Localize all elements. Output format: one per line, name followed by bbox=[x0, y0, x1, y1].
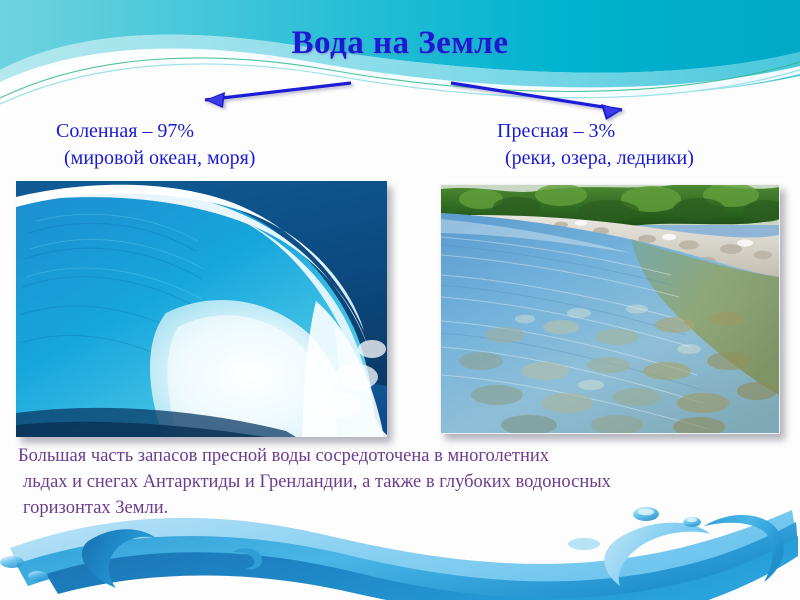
arrow-left-down-icon bbox=[205, 83, 351, 108]
wave-lobe-right-outer bbox=[704, 515, 784, 582]
body-paragraph: Большая часть запасов пресной воды сосре… bbox=[18, 443, 788, 521]
body-line-1: Большая часть запасов пресной воды сосре… bbox=[18, 443, 788, 469]
salt-heading: Соленная – 97% bbox=[56, 118, 255, 145]
river-shore-illustration bbox=[441, 185, 779, 433]
fresh-subtext: (реки, озера, ледники) bbox=[497, 145, 694, 172]
ocean-wave-photo bbox=[16, 181, 387, 437]
aqua-filament-line bbox=[0, 64, 800, 104]
wave-ribbon-dark bbox=[46, 536, 798, 600]
wave-ribbon-mid bbox=[16, 522, 798, 600]
salt-subtext: (мировой океан, моря) bbox=[56, 145, 255, 172]
wave-spiral bbox=[232, 548, 262, 569]
wave-lobe-right-inner bbox=[604, 523, 710, 586]
body-line-2: льдах и снегах Антарктиды и Гренландии, … bbox=[18, 469, 788, 495]
label-salt-water: Соленная – 97% (мировой океан, моря) bbox=[56, 118, 255, 172]
wave-ribbon-light bbox=[10, 510, 796, 593]
wave-curl-left bbox=[82, 529, 156, 588]
ocean-wave-illustration bbox=[16, 181, 387, 437]
body-line-3: горизонтах Земли. bbox=[18, 495, 788, 521]
arrow-right-down-icon bbox=[451, 83, 622, 120]
top-decoration bbox=[0, 0, 800, 130]
slide-title: Вода на Земле bbox=[0, 24, 800, 62]
presentation-slide: Вода на Земле Соленная – 97% (мировой ок… bbox=[0, 0, 800, 600]
label-fresh-water: Пресная – 3% (реки, озера, ледники) bbox=[497, 118, 694, 172]
green-filament-line bbox=[0, 58, 800, 98]
clear-river-photo bbox=[440, 184, 780, 434]
fresh-heading: Пресная – 3% bbox=[497, 118, 694, 145]
